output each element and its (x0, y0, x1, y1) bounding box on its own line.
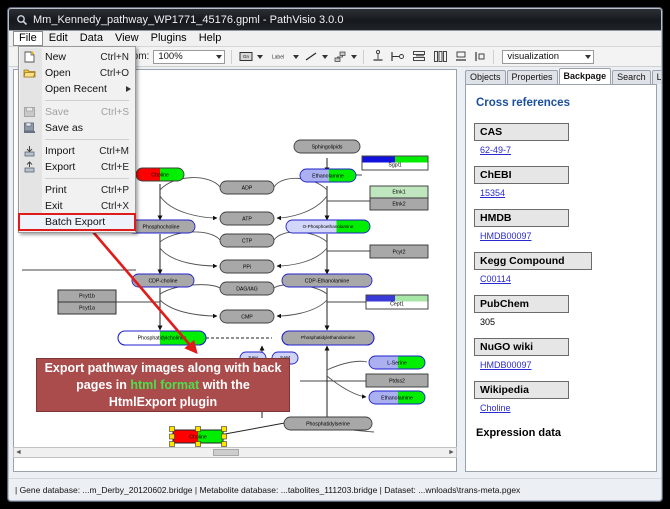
pathvisio-window: Mm_Kennedy_pathway_WP1771_45176.gpml - P… (8, 8, 662, 501)
open-folder-icon (23, 67, 36, 79)
xref-link-kegg[interactable]: C00114 (480, 274, 511, 284)
xref-link-chebi[interactable]: 15354 (480, 188, 505, 198)
svg-text:Phosphatidylserine: Phosphatidylserine (306, 421, 350, 427)
svg-text:O-Phosphoethanolamine: O-Phosphoethanolamine (303, 224, 354, 229)
node-etnk2[interactable]: Etnk2 (370, 198, 428, 210)
svg-text:Gn: Gn (243, 54, 250, 59)
svg-text:Ethanolamine: Ethanolamine (312, 173, 344, 179)
node-choline-selected[interactable]: Choline (170, 427, 227, 447)
file-menu-dropdown[interactable]: New Ctrl+N Open Ctrl+O Open Recent Save (18, 46, 136, 233)
svg-text:CTP: CTP (242, 238, 253, 244)
menu-item-save-as-label: Save as (45, 122, 129, 134)
node-sgpl1[interactable]: Sgpl1 (362, 156, 428, 170)
svg-text:PPi: PPi (243, 264, 251, 270)
menu-item-open-label: Open (45, 67, 100, 79)
label-dropdown-icon[interactable] (293, 55, 299, 59)
xref-value-pubchem: 305 (480, 317, 648, 327)
side-panel: Objects Properties Backpage Search Legen… (461, 69, 659, 472)
menu-item-save-label: Save (45, 106, 101, 118)
tab-search[interactable]: Search (612, 70, 651, 84)
xref-link-hmdb[interactable]: HMDB00097 (480, 231, 532, 241)
shape-dropdown-icon[interactable] (351, 55, 357, 59)
menu-file[interactable]: File (13, 31, 43, 46)
visualization-combobox[interactable]: visualization (502, 50, 594, 64)
line-tool-icon[interactable] (303, 49, 318, 64)
menu-bar[interactable]: File Edit Data View Plugins Help (9, 31, 662, 47)
svg-text:Sphingolipids: Sphingolipids (312, 144, 343, 150)
tab-backpage[interactable]: Backpage (559, 68, 612, 84)
svg-text:DAG/IAG: DAG/IAG (236, 286, 258, 292)
shape-tool-icon[interactable] (332, 49, 347, 64)
xref-source-kegg: Kegg Compound (474, 252, 592, 270)
save-as-icon (23, 122, 36, 134)
menu-item-export[interactable]: Export Ctrl+E (19, 159, 135, 175)
node-phosphatidylcholines[interactable]: Phosphatidylcholines (118, 331, 206, 345)
svg-text:ADP: ADP (242, 185, 253, 191)
xref-link-cas[interactable]: 62-49-7 (480, 145, 511, 155)
line-dropdown-icon[interactable] (322, 55, 328, 59)
xref-value-nugo[interactable]: HMDB00097 (480, 360, 648, 370)
title-bar: Mm_Kennedy_pathway_WP1771_45176.gpml - P… (9, 9, 662, 31)
svg-text:Pcyt2: Pcyt2 (393, 249, 406, 255)
callout-line3: HtmlExport plugin (109, 395, 217, 409)
align-top-icon[interactable] (370, 49, 385, 64)
xref-value-hmdb[interactable]: HMDB00097 (480, 231, 648, 241)
menu-separator-1 (45, 100, 129, 101)
menu-item-save: Save Ctrl+S (19, 104, 135, 120)
datanode-tool-icon[interactable]: Gn (238, 49, 253, 64)
node-cdp-ethanolamine[interactable]: CDP-Ethanolamine (282, 274, 372, 287)
menu-item-batch-export-label: Batch Export (45, 216, 135, 228)
menu-item-print[interactable]: Print Ctrl+P (19, 182, 135, 198)
export-icon (23, 161, 36, 173)
scroll-left-icon[interactable]: ◄ (14, 448, 23, 457)
callout-highlight: html format (130, 378, 199, 392)
xref-source-chebi: ChEBI (474, 166, 569, 184)
node-ethanolamine-bottom[interactable]: Ethanolamine (369, 391, 425, 404)
svg-text:Phosphatidylcholines: Phosphatidylcholines (138, 335, 187, 341)
xref-source-hmdb: HMDB (474, 209, 569, 227)
stack-vertical-icon[interactable] (411, 49, 428, 64)
toolbar-separator-3 (493, 50, 494, 64)
import-icon (23, 145, 36, 157)
menu-item-new-accel: Ctrl+N (100, 52, 135, 63)
menu-plugins[interactable]: Plugins (145, 31, 193, 46)
menu-item-save-as[interactable]: Save as (19, 120, 135, 136)
callout-line1: Export pathway images along with back (45, 361, 282, 375)
menu-item-print-accel: Ctrl+P (101, 185, 135, 196)
common-height-icon[interactable] (472, 49, 487, 64)
node-choline[interactable]: Choline (136, 168, 184, 181)
callout-line2-b: with the (199, 378, 250, 392)
node-sphingolipids[interactable]: Sphingolipids (294, 140, 360, 153)
menu-item-import[interactable]: Import Ctrl+M (19, 143, 135, 159)
svg-text:Pcyt1b: Pcyt1b (79, 293, 95, 299)
node-phosphatidylethanolamine[interactable]: Phosphatidylethanolamine (282, 331, 374, 345)
menu-separator-2 (45, 139, 129, 140)
zoom-combobox[interactable]: 100% (153, 50, 225, 64)
node-ctp[interactable]: CTP (220, 234, 274, 247)
svg-text:Etnk2: Etnk2 (392, 201, 405, 207)
menu-item-new-label: New (45, 51, 100, 63)
visualization-value: visualization (507, 51, 559, 62)
menu-item-open[interactable]: Open Ctrl+O (19, 65, 135, 81)
svg-text:Cept1: Cept1 (390, 301, 404, 307)
label-tool-icon[interactable]: Label (267, 49, 289, 64)
save-disk-icon (23, 106, 36, 118)
svg-text:Phosphatidylethanolamine: Phosphatidylethanolamine (301, 335, 355, 340)
node-etnk1[interactable]: Etnk1 (370, 186, 428, 198)
canvas-horizontal-scrollbar[interactable]: ◄ ► (13, 447, 457, 458)
menu-item-open-recent[interactable]: Open Recent (19, 81, 135, 97)
node-ptdss2[interactable]: Ptdss2 (366, 374, 428, 387)
node-cmp[interactable]: CMP (220, 310, 274, 323)
svg-text:Ptdss2: Ptdss2 (389, 378, 405, 384)
toolbar-separator-2 (363, 50, 364, 64)
menu-edit[interactable]: Edit (43, 31, 74, 46)
menu-item-print-label: Print (45, 184, 101, 196)
node-adp[interactable]: ADP (220, 181, 274, 194)
chevron-down-icon (585, 55, 591, 59)
svg-text:Label: Label (272, 55, 284, 61)
xref-value-kegg[interactable]: C00114 (480, 274, 648, 284)
node-ppi[interactable]: PPi (220, 260, 274, 273)
xref-value-wikipedia[interactable]: Choline (480, 403, 648, 413)
side-panel-tabs[interactable]: Objects Properties Backpage Search Legen… (461, 69, 659, 84)
status-bar: | Gene database: ...m_Derby_20120602.bri… (9, 478, 662, 500)
datanode-dropdown-icon[interactable] (257, 55, 263, 59)
expression-data-heading: Expression data (476, 427, 648, 439)
svg-text:ATP: ATP (242, 216, 252, 222)
menu-item-open-accel: Ctrl+O (100, 68, 135, 79)
cross-references-heading: Cross references (476, 97, 648, 109)
toolbar-separator (231, 50, 232, 64)
svg-text:Choline: Choline (151, 172, 169, 178)
menu-item-import-label: Import (45, 145, 99, 157)
menu-item-open-recent-label: Open Recent (45, 83, 126, 95)
node-cept1[interactable]: Cept1 (366, 295, 428, 309)
svg-text:Sgpl1: Sgpl1 (388, 162, 401, 168)
menu-item-save-accel: Ctrl+S (101, 107, 135, 118)
svg-text:Phosphocholine: Phosphocholine (143, 224, 180, 230)
xref-source-pubchem: PubChem (474, 295, 569, 313)
screenshot-root: Mm_Kennedy_pathway_WP1771_45176.gpml - P… (0, 0, 670, 509)
svg-text:CDP-Ethanolamine: CDP-Ethanolamine (305, 278, 350, 284)
menu-help[interactable]: Help (193, 31, 228, 46)
xref-link-wikipedia[interactable]: Choline (480, 403, 511, 413)
tab-objects[interactable]: Objects (465, 70, 506, 84)
svg-text:Ethanolamine: Ethanolamine (381, 395, 413, 401)
xref-value-cas[interactable]: 62-49-7 (480, 145, 648, 155)
common-width-icon[interactable] (453, 49, 468, 64)
xref-value-chebi[interactable]: 15354 (480, 188, 648, 198)
menu-item-new[interactable]: New Ctrl+N (19, 49, 135, 65)
node-atp[interactable]: ATP (220, 212, 274, 225)
chevron-down-icon (216, 55, 222, 59)
xref-source-cas: CAS (474, 123, 569, 141)
menu-item-import-accel: Ctrl+M (99, 146, 135, 157)
node-l-serine[interactable]: L-Serine (369, 356, 425, 369)
zoom-value: 100% (158, 51, 182, 62)
node-pcyt1a[interactable]: Pcyt1a (58, 302, 116, 314)
tab-legend[interactable]: Legend (652, 70, 662, 84)
svg-text:Choline: Choline (189, 434, 207, 440)
node-cdp-choline[interactable]: CDP-choline (132, 274, 194, 287)
callout-line2-a: pages in (76, 378, 130, 392)
status-text: | Gene database: ...m_Derby_20120602.bri… (9, 485, 520, 495)
node-pcyt1b[interactable]: Pcyt1b (58, 290, 116, 302)
svg-text:Etnk1: Etnk1 (392, 189, 405, 195)
new-file-icon (23, 51, 36, 63)
submenu-arrow-icon (126, 86, 131, 92)
scrollbar-thumb[interactable] (213, 449, 239, 456)
menu-item-exit[interactable]: Exit Ctrl+X (19, 198, 135, 214)
node-pcyt2[interactable]: Pcyt2 (370, 245, 428, 258)
menu-item-exit-accel: Ctrl+X (101, 201, 135, 212)
node-phosphocholine[interactable]: Phosphocholine (127, 220, 195, 233)
annotation-callout: Export pathway images along with back pa… (36, 358, 290, 412)
pathvisio-icon (16, 14, 28, 26)
menu-item-batch-export[interactable]: Batch Export (19, 214, 135, 230)
align-left-icon[interactable] (389, 49, 407, 64)
node-phosphatidylserine[interactable]: Phosphatidylserine (284, 417, 372, 430)
menu-item-export-accel: Ctrl+E (101, 162, 135, 173)
xref-source-nugo: NuGO wiki (474, 338, 569, 356)
svg-text:L-Serine: L-Serine (387, 360, 407, 366)
backpage-content[interactable]: Cross references CAS 62-49-7 ChEBI 15354… (465, 84, 657, 472)
stack-horizontal-icon[interactable] (432, 49, 449, 64)
node-dag[interactable]: DAG/IAG (220, 282, 274, 295)
svg-text:CDP-choline: CDP-choline (148, 278, 177, 284)
menu-data[interactable]: Data (74, 31, 109, 46)
svg-text:CMP: CMP (241, 314, 253, 320)
window-title: Mm_Kennedy_pathway_WP1771_45176.gpml - P… (33, 14, 343, 26)
menu-view[interactable]: View (109, 31, 145, 46)
scroll-right-icon[interactable]: ► (447, 448, 456, 457)
xref-link-nugo[interactable]: HMDB00097 (480, 360, 532, 370)
svg-text:Pcyt1a: Pcyt1a (79, 305, 95, 311)
node-o-phosphoethanolamine[interactable]: O-Phosphoethanolamine (286, 220, 370, 233)
xref-source-wikipedia: Wikipedia (474, 381, 569, 399)
tab-properties[interactable]: Properties (507, 70, 558, 84)
menu-item-export-label: Export (45, 161, 101, 173)
menu-separator-3 (45, 178, 129, 179)
menu-item-exit-label: Exit (45, 200, 101, 212)
node-ethanolamine-top[interactable]: Ethanolamine (300, 169, 356, 182)
